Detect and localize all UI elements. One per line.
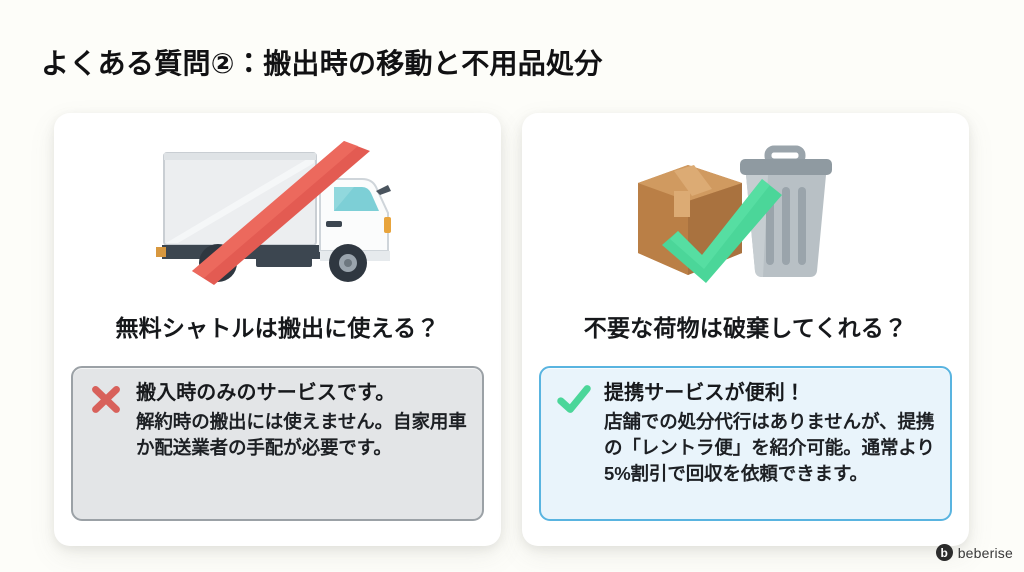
answer-box-disposal: 提携サービスが便利！ 店舗での処分代行はありませんが、提携の「レントラ便」を紹介… [539, 366, 952, 521]
faq-card-disposal: 不要な荷物は破棄してくれる？ 提携サービスが便利！ 店舗での処分代行はありません… [522, 113, 969, 546]
answer-headline-disposal: 提携サービスが便利！ [604, 381, 936, 407]
cross-mark-icon [87, 382, 125, 416]
card-question-shuttle: 無料シャトルは搬出に使える？ [54, 309, 501, 343]
no-truck-illustration [54, 135, 501, 303]
card-question-disposal: 不要な荷物は破棄してくれる？ [522, 309, 969, 343]
faq-card-shuttle: 無料シャトルは搬出に使える？ 搬入時のみのサービスです。 解約時の搬出には使えま… [54, 113, 501, 546]
brand-name: beberise [958, 545, 1013, 561]
box-and-trash-check-icon [616, 135, 876, 295]
answer-body-shuttle: 解約時の搬出には使えません。自家用車か配送業者の手配が必要です。 [136, 409, 468, 462]
answer-text-disposal: 提携サービスが便利！ 店舗での処分代行はありませんが、提携の「レントラ便」を紹介… [604, 381, 936, 487]
answer-text-shuttle: 搬入時のみのサービスです。 解約時の搬出には使えません。自家用車か配送業者の手配… [136, 381, 468, 461]
brand-logo: beberise [936, 544, 1013, 561]
answer-box-shuttle: 搬入時のみのサービスです。 解約時の搬出には使えません。自家用車か配送業者の手配… [71, 366, 484, 521]
answer-body-disposal: 店舗での処分代行はありませんが、提携の「レントラ便」を紹介可能。通常より5%割引… [604, 409, 936, 488]
slide-root: よくある質問②：搬出時の移動と不用品処分 [0, 0, 1024, 572]
no-truck-icon [148, 135, 408, 295]
beberise-mark-icon [936, 544, 953, 561]
check-mark-icon [555, 382, 593, 416]
box-and-trash-illustration [522, 135, 969, 303]
page-title: よくある質問②：搬出時の移動と不用品処分 [41, 42, 603, 82]
answer-headline-shuttle: 搬入時のみのサービスです。 [136, 381, 468, 407]
